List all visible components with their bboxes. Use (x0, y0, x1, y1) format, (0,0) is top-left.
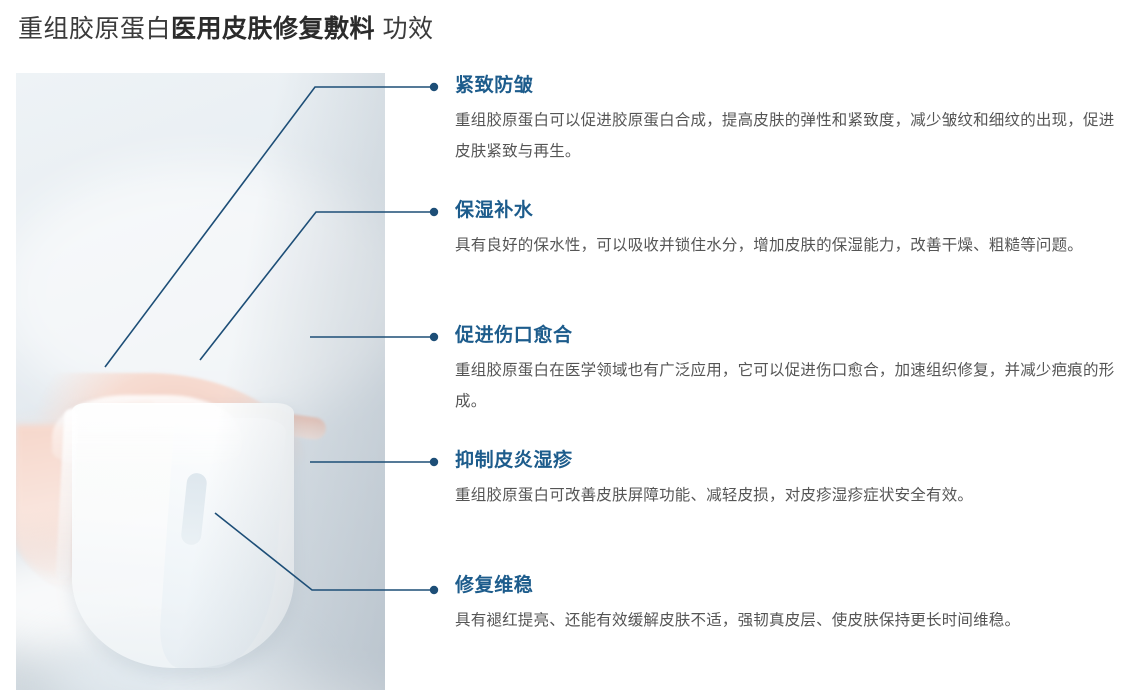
bullet-dot-2 (430, 208, 438, 216)
feature-heading-3: 促进伤口愈合 (455, 323, 1127, 349)
feature-body-4: 重组胶原蛋白可改善皮肤屏障功能、减轻皮损，对皮疹湿疹症状安全有效。 (455, 480, 973, 511)
feature-heading-1: 紧致防皱 (455, 73, 1127, 99)
bullet-dot-4 (430, 458, 438, 466)
page-title-tail: 功效 (375, 15, 433, 43)
feature-body-5: 具有褪红提亮、还能有效缓解皮肤不适，强韧真皮层、使皮肤保持更长时间维稳。 (455, 605, 1020, 636)
feature-heading-4: 抑制皮炎湿疹 (455, 448, 973, 474)
photo-gradient-overlay (16, 73, 385, 690)
feature-item-2: 保湿补水 具有良好的保水性，可以吸收并锁住水分，增加皮肤的保湿能力，改善干燥、粗… (455, 198, 1083, 261)
feature-body-3: 重组胶原蛋白在医学领域也有广泛应用，它可以促进伤口愈合，加速组织修复，并减少疤痕… (455, 355, 1127, 417)
page-title-bold: 医用皮肤修复敷料 (171, 15, 375, 43)
feature-item-5: 修复维稳 具有褪红提亮、还能有效缓解皮肤不适，强韧真皮层、使皮肤保持更长时间维稳… (455, 573, 1020, 636)
feature-item-4: 抑制皮炎湿疹 重组胶原蛋白可改善皮肤屏障功能、减轻皮损，对皮疹湿疹症状安全有效。 (455, 448, 973, 511)
feature-body-1: 重组胶原蛋白可以促进胶原蛋白合成，提高皮肤的弹性和紧致度，减少皱纹和细纹的出现，… (455, 105, 1127, 167)
feature-heading-5: 修复维稳 (455, 573, 1020, 599)
bullet-dot-1 (430, 83, 438, 91)
page-title: 重组胶原蛋白医用皮肤修复敷料 功效 (18, 12, 433, 46)
product-photo (16, 73, 385, 690)
bullet-dot-3 (430, 333, 438, 341)
bullet-dot-5 (430, 586, 438, 594)
page-title-lead: 重组胶原蛋白 (18, 15, 171, 43)
feature-body-2: 具有良好的保水性，可以吸收并锁住水分，增加皮肤的保湿能力，改善干燥、粗糙等问题。 (455, 230, 1083, 261)
feature-item-1: 紧致防皱 重组胶原蛋白可以促进胶原蛋白合成，提高皮肤的弹性和紧致度，减少皱纹和细… (455, 73, 1127, 167)
feature-heading-2: 保湿补水 (455, 198, 1083, 224)
feature-item-3: 促进伤口愈合 重组胶原蛋白在医学领域也有广泛应用，它可以促进伤口愈合，加速组织修… (455, 323, 1127, 417)
